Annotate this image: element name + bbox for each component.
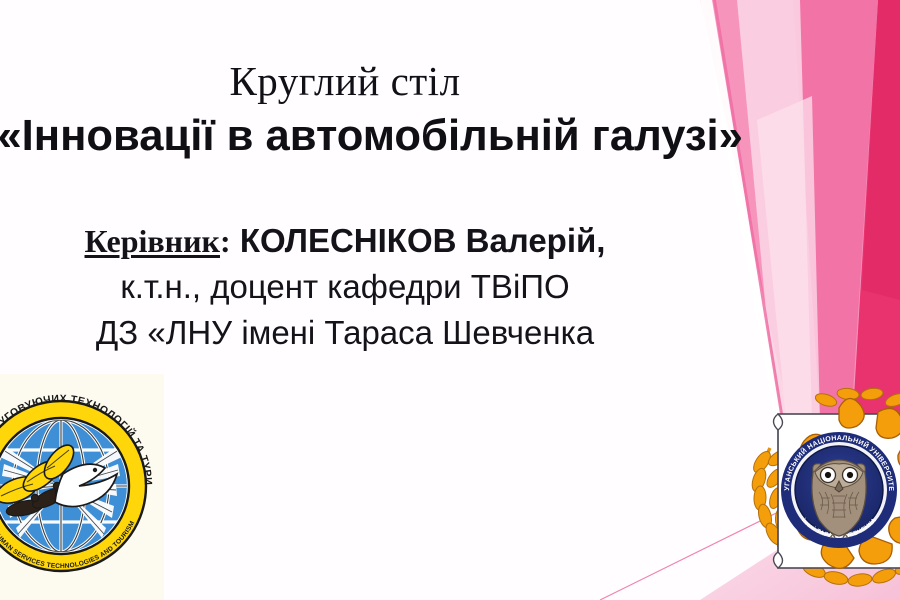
presenter-position-line: к.т.н., доцент кафедри ТВіПО (0, 264, 690, 310)
luhansk-taras-shevchenko-national-university-owl-emblem: ЛУГАНСЬКИЙ НАЦІОНАЛЬНИЙ УНІВЕРСИТЕТ імен… (748, 378, 900, 600)
presenter-role-separator: : (220, 223, 231, 259)
slide-canvas: Круглий стіл «Інновації в автомобільній … (0, 0, 900, 600)
ribbon-shapes (700, 0, 900, 430)
event-type-title: Круглий стіл (0, 60, 690, 103)
presenter-name: КОЛЕСНІКОВ Валерій, (240, 222, 606, 259)
kharkiv-trade-technologies-tourism-emblem: ТОРГІВЛІ, ОБСЛУГОВУЮЧИХ ТЕХНОЛОГІЙ ТА ТУ… (0, 372, 164, 600)
presenter-institution-line: ДЗ «ЛНУ імені Тараса Шевченка (0, 310, 690, 356)
presenter-role-label: Керівник (85, 223, 220, 259)
event-name-title: «Інновації в автомобільній галузі» (0, 113, 681, 159)
presenter-block: Керівник: КОЛЕСНІКОВ Валерій, к.т.н., до… (0, 218, 690, 357)
presenter-name-line: Керівник: КОЛЕСНІКОВ Валерій, (0, 218, 690, 264)
